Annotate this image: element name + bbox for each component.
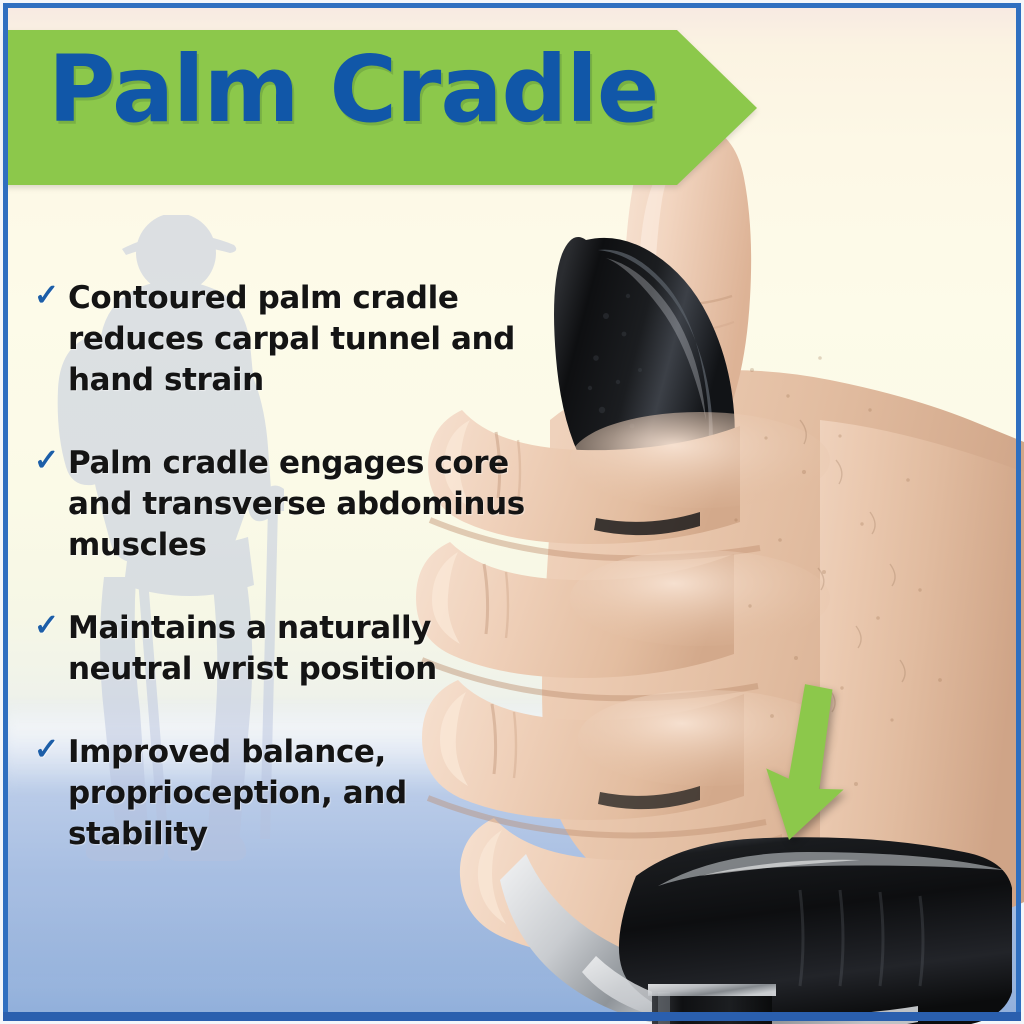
check-icon: ✓	[34, 732, 68, 768]
list-item: ✓ Palm cradle engages core and transvers…	[34, 443, 534, 566]
list-item: ✓ Improved balance, proprioception, and …	[34, 732, 534, 855]
benefits-list: ✓ Contoured palm cradle reduces carpal t…	[34, 278, 534, 855]
infographic-canvas: Palm Cradle ✓ Contoured palm cradle redu…	[0, 0, 1024, 1024]
page-title: Palm Cradle	[48, 44, 658, 136]
image-bottom-border	[3, 1012, 1021, 1021]
list-item: ✓ Maintains a naturally neutral wrist po…	[34, 608, 534, 690]
list-item-label: Improved balance, proprioception, and st…	[68, 732, 534, 855]
list-item-label: Palm cradle engages core and transverse …	[68, 443, 534, 566]
check-icon: ✓	[34, 608, 68, 644]
list-item: ✓ Contoured palm cradle reduces carpal t…	[34, 278, 534, 401]
check-icon: ✓	[34, 443, 68, 479]
list-item-label: Contoured palm cradle reduces carpal tun…	[68, 278, 534, 401]
list-item-label: Maintains a naturally neutral wrist posi…	[68, 608, 534, 690]
down-arrow-icon	[752, 678, 862, 848]
check-icon: ✓	[34, 278, 68, 314]
